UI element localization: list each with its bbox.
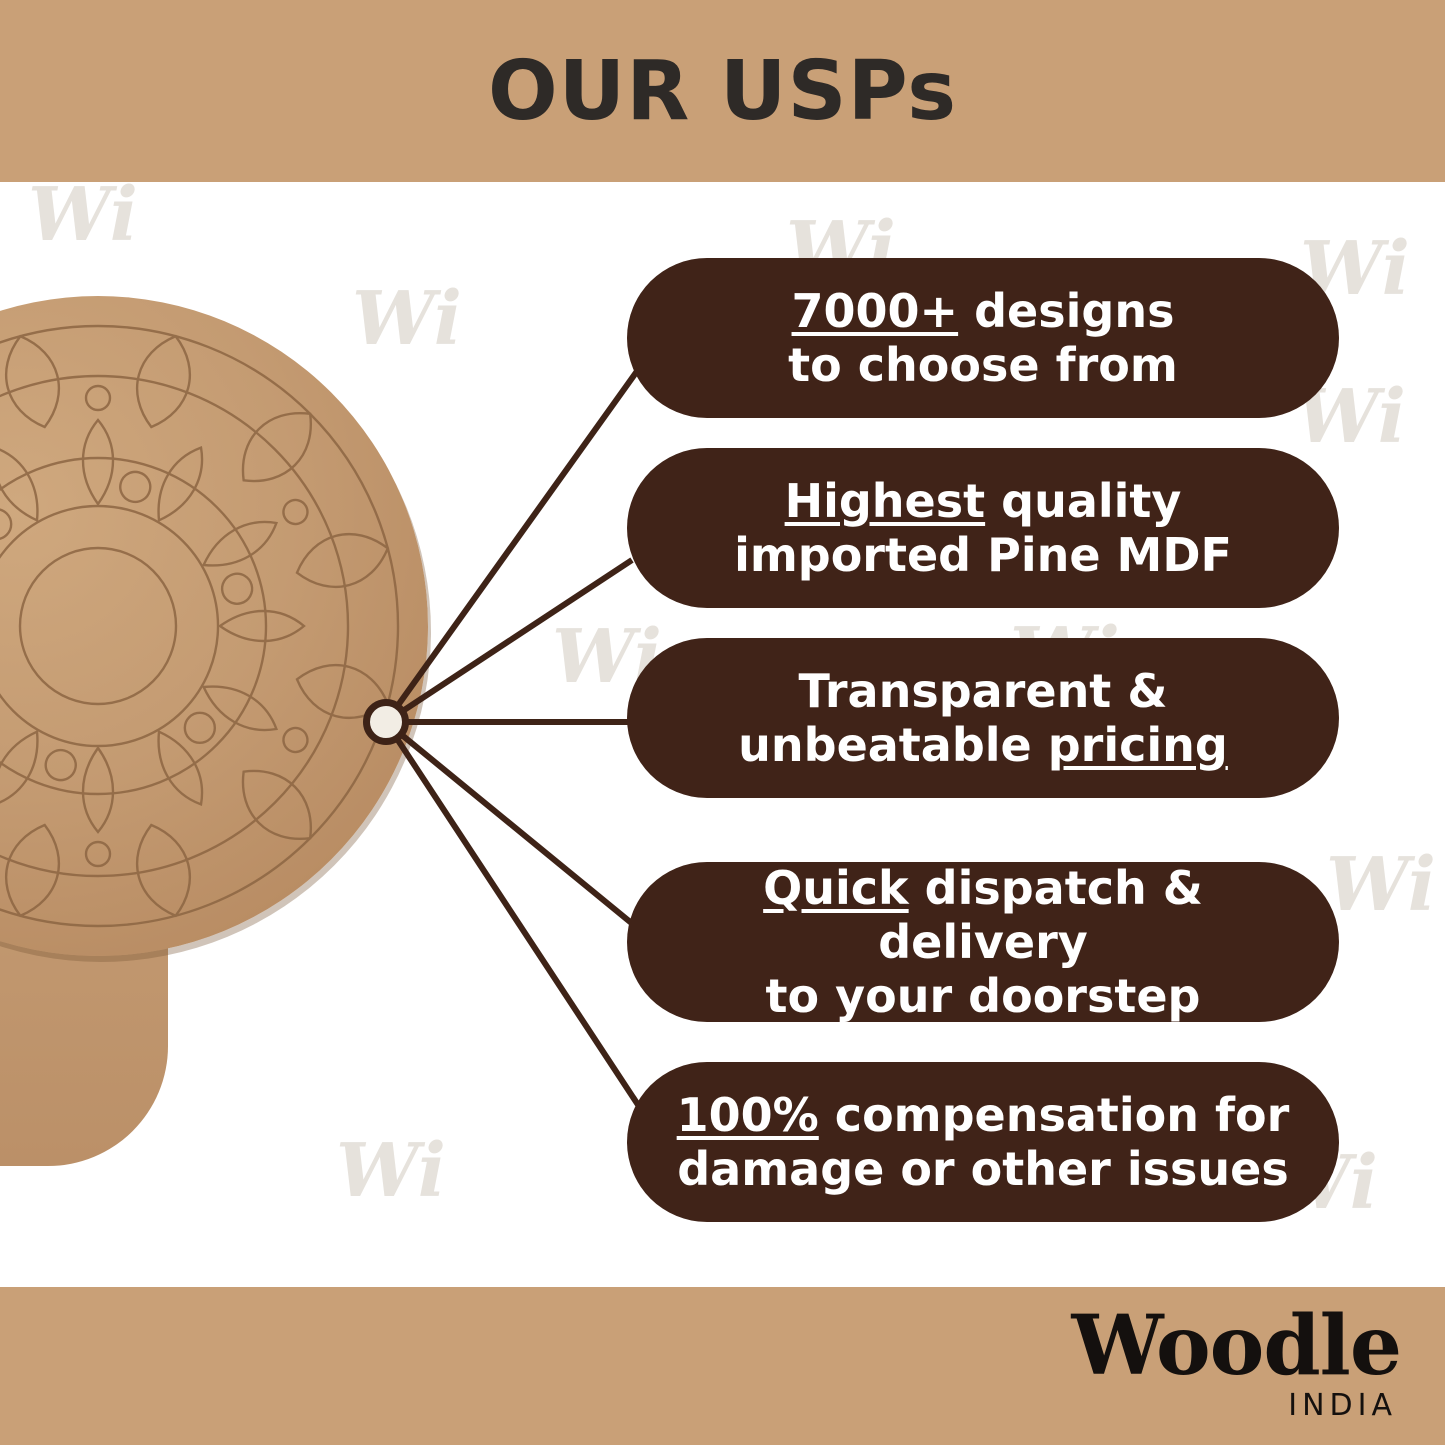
usp-rest: dispatch & delivery [878,861,1203,969]
watermark: Wi [1326,848,1436,922]
usp-item-designs[interactable]: 7000+ designs to choose from [627,258,1339,418]
brand-name: Woodle [1072,1308,1401,1386]
usp-line2: damage or other issues [677,1142,1288,1196]
mandala-engraving [0,296,428,956]
usp-highlight: pricing [1048,718,1228,772]
usp-text: 7000+ designs to choose from [788,284,1178,393]
usp-highlight: Highest [785,474,986,528]
usp-rest: quality [985,474,1181,528]
usp-item-quality[interactable]: Highest quality imported Pine MDF [627,448,1339,608]
usp-line2: to choose from [788,338,1178,392]
usp-item-pricing[interactable]: Transparent & unbeatable pricing [627,638,1339,798]
usp-text: Highest quality imported Pine MDF [734,474,1232,583]
usp-item-compensation[interactable]: 100% compensation for damage or other is… [627,1062,1339,1222]
usp-line2: imported Pine MDF [734,528,1232,582]
usp-rest: compensation for [819,1088,1290,1142]
usp-rest: designs [958,284,1174,338]
product-image [0,296,428,1176]
usp-infographic: OUR USPs Wi Wi Wi Wi Wi Wi Wi Wi Wi Wi [0,0,1445,1445]
brand-logo: Woodle INDIA [1072,1308,1401,1423]
usp-item-dispatch[interactable]: Quick dispatch & delivery to your doorst… [627,862,1339,1022]
usp-rest: unbeatable [738,718,1048,772]
usp-line1: Transparent & [799,664,1168,718]
hub-node [363,699,409,745]
usp-text: 100% compensation for damage or other is… [677,1088,1290,1197]
usp-text: Transparent & unbeatable pricing [738,664,1228,773]
watermark: Wi [28,178,138,252]
usp-highlight: 7000+ [792,284,959,338]
usp-line2: to your doorstep [766,969,1201,1023]
usp-highlight: 100% [677,1088,819,1142]
page-title: OUR USPs [0,0,1445,182]
usp-highlight: Quick [763,861,908,915]
usp-text: Quick dispatch & delivery to your doorst… [653,861,1313,1024]
